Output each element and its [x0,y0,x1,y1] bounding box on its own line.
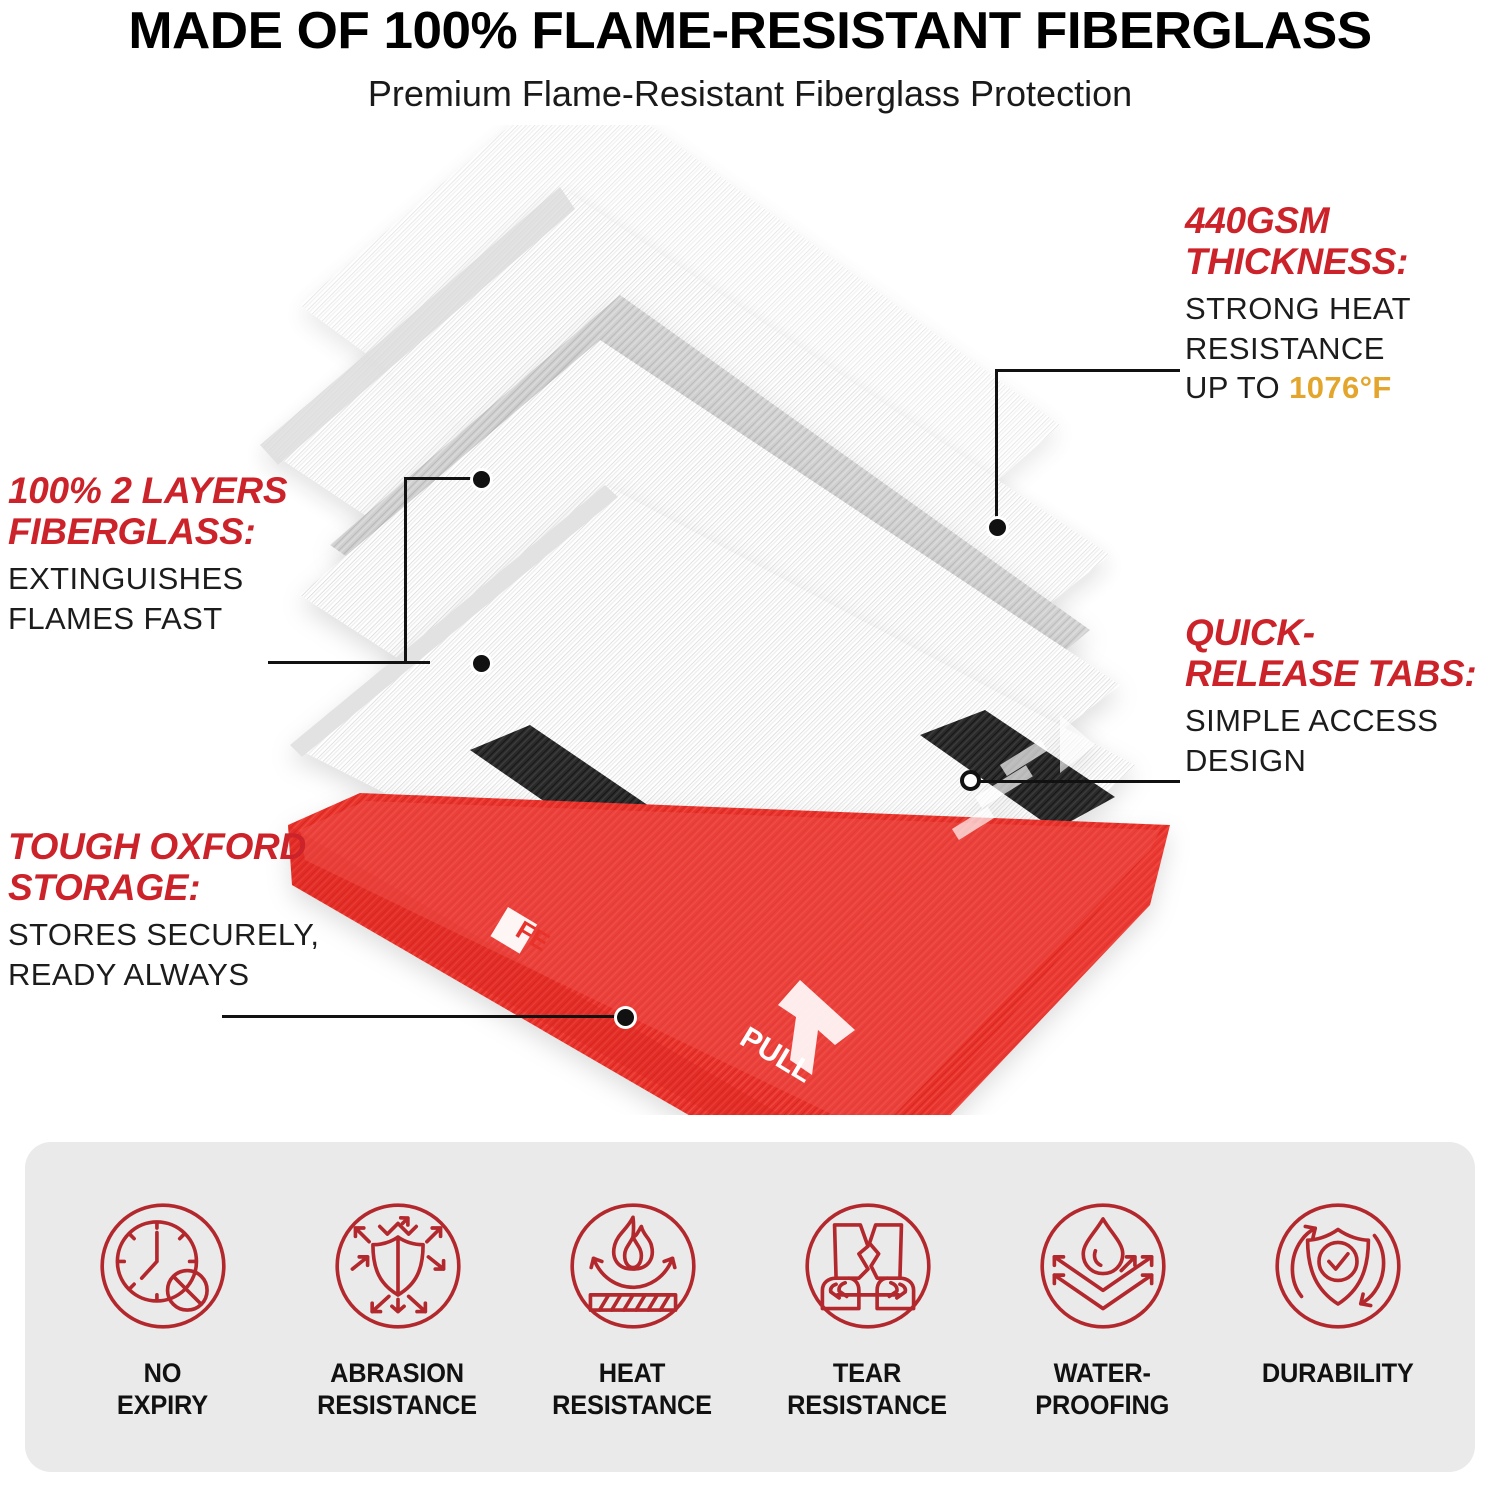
leader-dot-layers-upper [470,468,493,491]
callout-tabs: QUICK- RELEASE TABS: SIMPLE ACCESS DESIG… [1185,612,1495,780]
tear-hands-fabric-icon [792,1190,944,1342]
callout-storage: TOUGH OXFORD STORAGE: STORES SECURELY, R… [8,826,348,994]
callout-storage-title: TOUGH OXFORD STORAGE: [8,826,348,909]
feature-label: HEAT RESISTANCE [553,1358,713,1422]
feature-label: DURABILITY [1262,1358,1414,1390]
feature-label: WATER- PROOFING [1036,1358,1170,1422]
leader-line-layers-v [404,477,407,664]
feature-benefits-bar: NO EXPIRY ABRASION RESISTANCE [25,1142,1475,1472]
page-subtitle: Premium Flame-Resistant Fiberglass Prote… [0,73,1500,115]
callout-tabs-body: SIMPLE ACCESS DESIGN [1185,701,1495,780]
callout-storage-body: STORES SECURELY, READY ALWAYS [8,915,348,994]
feature-abrasion-resistance: ABRASION RESISTANCE [290,1190,505,1422]
leader-line-layers-upper [404,477,479,480]
callout-tabs-title: QUICK- RELEASE TABS: [1185,612,1495,695]
waterproof-droplet-icon [1027,1190,1179,1342]
durability-shield-cycle-icon [1262,1190,1414,1342]
heat-rating-value: 1076°F [1289,370,1392,405]
callout-layers-body: EXTINGUISHES FLAMES FAST [8,559,338,638]
feature-tear-resistance: TEAR RESISTANCE [760,1190,975,1422]
callout-layers: 100% 2 LAYERS FIBERGLASS: EXTINGUISHES F… [8,470,338,638]
leader-line-tabs-h [970,780,1180,783]
callout-layers-title: 100% 2 LAYERS FIBERGLASS: [8,470,338,553]
leader-dot-thickness [986,516,1009,539]
callout-thickness-body: STRONG HEAT RESISTANCE UP TO 1076°F [1185,289,1490,408]
feature-waterproofing: WATER- PROOFING [995,1190,1210,1422]
header: MADE OF 100% FLAME-RESISTANT FIBERGLASS … [0,0,1500,115]
no-expiry-clock-icon [87,1190,239,1342]
leader-line-thickness-v [995,369,998,525]
feature-label: ABRASION RESISTANCE [318,1358,478,1422]
callout-thickness: 440GSM THICKNESS: STRONG HEAT RESISTANCE… [1185,200,1490,408]
feature-no-expiry: NO EXPIRY [55,1190,270,1422]
leader-dot-tabs [960,770,981,791]
callout-thickness-title: 440GSM THICKNESS: [1185,200,1490,283]
leader-line-thickness-h [995,369,1180,372]
feature-label: TEAR RESISTANCE [788,1358,948,1422]
feature-durability: DURABILITY [1230,1190,1445,1390]
leader-dot-layers-lower [470,652,493,675]
abrasion-shield-arrows-icon [322,1190,474,1342]
leader-dot-storage [614,1006,637,1029]
heat-flame-fabric-icon [557,1190,709,1342]
leader-line-storage-h [222,1015,627,1018]
page-headline: MADE OF 100% FLAME-RESISTANT FIBERGLASS [0,0,1500,59]
feature-heat-resistance: HEAT RESISTANCE [525,1190,740,1422]
feature-label: NO EXPIRY [117,1358,208,1422]
